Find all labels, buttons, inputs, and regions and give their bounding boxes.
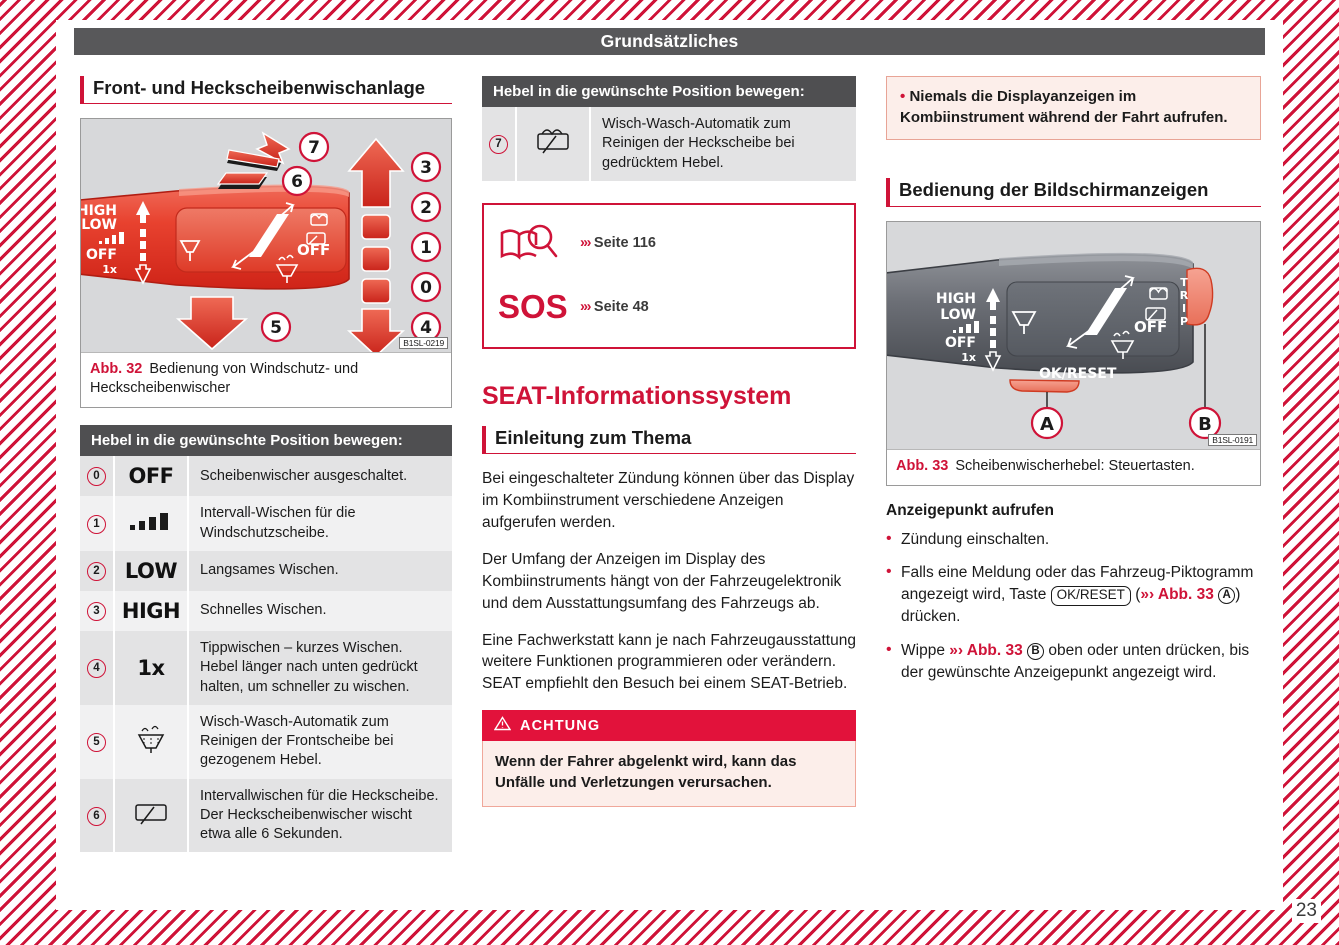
svg-text:R: R <box>1180 289 1189 302</box>
svg-text:LOW: LOW <box>81 217 117 233</box>
svg-text:T: T <box>1180 276 1188 289</box>
row-description: Intervallwischen für die Heckscheibe. De… <box>188 779 452 853</box>
figure-32-image: HIGH LOW OFF 1x <box>81 119 451 352</box>
left-section-heading: Front- und Heckscheibenwischanlage <box>80 76 452 104</box>
row-number-cell: 6 <box>80 779 114 853</box>
low-text-icon: LOW <box>114 551 188 591</box>
ok-reset-label: OK/RESET <box>1039 366 1117 382</box>
figure-32-caption: Abb. 32Bedienung von Windschutz- und Hec… <box>81 352 451 407</box>
list-item: Falls eine Meldung oder das Fahrzeug-Pik… <box>886 562 1261 628</box>
page-title: Grundsätzliches <box>601 31 739 52</box>
figure-32-image-code: B1SL-0219 <box>399 337 448 349</box>
paragraph: Der Umfang der Anzeigen im Display des K… <box>482 549 856 615</box>
reference-label-1: »›Seite 116 <box>580 235 656 251</box>
lever-positions-table-2: Hebel in die gewünschte Position bewegen… <box>482 76 856 181</box>
manual-page: Grundsätzliches 23 Front- und Heckscheib… <box>0 0 1339 945</box>
table-row: 6 Intervallwischen für die Heckscheibe. … <box>80 779 452 853</box>
callout-square-2 <box>362 215 390 239</box>
ok-reset-button <box>1010 380 1079 392</box>
row-description: Intervall-Wischen für die Windschutzsche… <box>188 496 452 551</box>
cross-reference-box: »›Seite 116 SOS »›Seite 48 <box>482 203 856 349</box>
callout-square-0 <box>362 279 390 303</box>
table-row: 0 OFF Scheibenwischer ausgeschaltet. <box>80 456 452 496</box>
list-item: Zündung einschalten. <box>886 529 1261 551</box>
right-section-heading: Bedienung der Bildschirmanzeigen <box>886 178 1261 206</box>
chapter-title: SEAT-Informationssystem <box>482 383 856 411</box>
svg-text:3: 3 <box>420 158 432 178</box>
lever-positions-table-header: Hebel in die gewünschte Position bewegen… <box>80 425 452 456</box>
svg-text:LOW: LOW <box>940 307 976 323</box>
row-number-cell: 4 <box>80 631 114 705</box>
book-magnifier-icon <box>498 221 580 265</box>
warning-box-header: ACHTUNG <box>482 710 856 741</box>
table-row: 4 1x Tippwischen – kurzes Wischen. Hebel… <box>80 631 452 705</box>
table-row: 7 Wisch-Wasch-Automatik zum Reinigen der… <box>482 107 856 181</box>
row-number-cell: 7 <box>482 107 516 181</box>
list-item: Wippe »› Abb. 33 B oben oder unten drück… <box>886 640 1261 684</box>
svg-text:1x: 1x <box>961 351 976 364</box>
chevron-icon: »› <box>580 235 590 251</box>
warning-box: ACHTUNG Wenn der Fahrer abgelenkt wird, … <box>482 710 856 807</box>
lever-positions-table-2-header: Hebel in die gewünschte Position bewegen… <box>482 76 856 107</box>
svg-text:OFF: OFF <box>86 247 117 263</box>
row-description: Scheibenwischer ausgeschaltet. <box>188 456 452 496</box>
right-column: • Niemals die Displayanzeigen im Kombiin… <box>886 76 1261 696</box>
off-text-icon: OFF <box>114 456 188 496</box>
wiper-stalk-gray-illustration: HIGH LOW OFF 1x <box>887 222 1260 449</box>
table-header-row: Hebel in die gewünschte Position bewegen… <box>80 425 452 456</box>
row-description: Langsames Wischen. <box>188 551 452 591</box>
page-number: 23 <box>1292 899 1321 923</box>
row-number-badge: 3 <box>87 602 106 621</box>
row-number-cell: 3 <box>80 591 114 631</box>
row-number-cell: 5 <box>80 705 114 779</box>
figure-32-label: Abb. 32 <box>90 361 142 377</box>
svg-text:2: 2 <box>420 198 432 218</box>
svg-text:7: 7 <box>308 138 320 158</box>
ok-reset-keycap: OK/RESET <box>1051 586 1131 606</box>
row-description: Tippwischen – kurzes Wischen. Hebel läng… <box>188 631 452 705</box>
svg-text:0: 0 <box>420 278 432 298</box>
reference-label-2: »›Seite 48 <box>580 299 649 315</box>
wiper-stalk-red-illustration: HIGH LOW OFF 1x <box>81 119 451 352</box>
row-number-badge: 6 <box>87 807 106 826</box>
row-number-badge: 4 <box>87 659 106 678</box>
paragraph: Bei eingeschalteter Zündung können über … <box>482 468 856 534</box>
reference-row: SOS »›Seite 48 <box>498 281 844 333</box>
page-header-band: Grundsätzliches <box>74 28 1265 55</box>
callout-square-1 <box>362 247 390 271</box>
left-column: Front- und Heckscheibenwischanlage <box>80 76 452 852</box>
figure-cross-reference: »› Abb. 33 <box>1140 586 1214 603</box>
row-description: Wisch-Wasch-Automatik zum Reinigen der H… <box>590 107 856 181</box>
sub-heading: Anzeigepunkt aufrufen <box>886 502 1261 520</box>
callout-letter-b: B <box>1027 643 1044 660</box>
svg-text:OFF: OFF <box>945 335 976 351</box>
warning-box-title: ACHTUNG <box>520 718 600 734</box>
interval-bars-icon <box>114 496 188 551</box>
sos-icon: SOS <box>498 290 580 323</box>
windscreen-washer-icon <box>114 705 188 779</box>
table-row: 3 HIGH Schnelles Wischen. <box>80 591 452 631</box>
svg-text:I: I <box>1182 302 1186 315</box>
reference-row: »›Seite 116 <box>498 217 844 269</box>
row-number-badge: 0 <box>87 467 106 486</box>
rear-wiper-icon <box>114 779 188 853</box>
svg-text:1: 1 <box>420 238 432 258</box>
table-row: 1 Intervall-Wischen für die Windschutzsc… <box>80 496 452 551</box>
figure-32: HIGH LOW OFF 1x <box>80 118 452 408</box>
callout-letter-a: A <box>1218 587 1235 604</box>
svg-text:P: P <box>1180 315 1188 328</box>
table-row: 5 Wisch-Wasch-Automatik zum Reinigen der… <box>80 705 452 779</box>
one-x-text-icon: 1x <box>114 631 188 705</box>
svg-text:HIGH: HIGH <box>936 291 976 307</box>
svg-text:6: 6 <box>291 172 303 192</box>
warning-callout: • Niemals die Displayanzeigen im Kombiin… <box>886 76 1261 140</box>
svg-text:4: 4 <box>420 318 432 338</box>
row-number-cell: 1 <box>80 496 114 551</box>
row-number-badge: 1 <box>87 515 106 534</box>
rear-washer-icon <box>516 107 590 181</box>
left-section-heading-text: Front- und Heckscheibenwischanlage <box>93 76 452 99</box>
middle-section-heading-text: Einleitung zum Thema <box>495 426 856 449</box>
figure-33-image-code: B1SL-0191 <box>1208 434 1257 446</box>
figure-33-caption: Abb. 33Scheibenwischerhebel: Steuertaste… <box>887 449 1260 485</box>
row-number-cell: 0 <box>80 456 114 496</box>
row-description: Wisch-Wasch-Automatik zum Reinigen der F… <box>188 705 452 779</box>
high-text-icon: HIGH <box>114 591 188 631</box>
figure-33: HIGH LOW OFF 1x <box>886 221 1261 486</box>
bullet-icon: • <box>900 88 905 105</box>
svg-text:A: A <box>1040 414 1054 435</box>
middle-section-heading: Einleitung zum Thema <box>482 426 856 454</box>
lever-positions-table: Hebel in die gewünschte Position bewegen… <box>80 425 452 852</box>
figure-33-image: HIGH LOW OFF 1x <box>887 222 1260 449</box>
svg-text:5: 5 <box>270 318 282 338</box>
svg-text:B: B <box>1198 414 1212 435</box>
warning-box-body: Wenn der Fahrer abgelenkt wird, kann das… <box>482 741 856 807</box>
chevron-icon: »› <box>580 299 590 315</box>
warning-triangle-icon <box>494 716 511 735</box>
paragraph: Eine Fachwerkstatt kann je nach Fahrzeug… <box>482 630 856 696</box>
table-header-row: Hebel in die gewünschte Position bewegen… <box>482 76 856 107</box>
instruction-list: Zündung einschalten. Falls eine Meldung … <box>886 529 1261 684</box>
right-section-heading-text: Bedienung der Bildschirmanzeigen <box>899 178 1261 201</box>
row-description: Schnelles Wischen. <box>188 591 452 631</box>
warning-callout-text: Niemals die Displayanzeigen im Kombiinst… <box>900 88 1228 126</box>
row-number-badge: 5 <box>87 733 106 752</box>
figure-cross-reference: »› Abb. 33 <box>949 642 1023 659</box>
callout-plate-6 <box>218 173 267 189</box>
row-number-cell: 2 <box>80 551 114 591</box>
trip-rocker-button <box>1187 268 1213 325</box>
figure-33-caption-text: Scheibenwischerhebel: Steuertasten. <box>955 458 1194 474</box>
row-number-badge: 7 <box>489 135 508 154</box>
table-row: 2 LOW Langsames Wischen. <box>80 551 452 591</box>
figure-33-label: Abb. 33 <box>896 458 948 474</box>
row-number-badge: 2 <box>87 562 106 581</box>
middle-column: Hebel in die gewünschte Position bewegen… <box>482 76 856 807</box>
svg-text:1x: 1x <box>102 263 117 276</box>
